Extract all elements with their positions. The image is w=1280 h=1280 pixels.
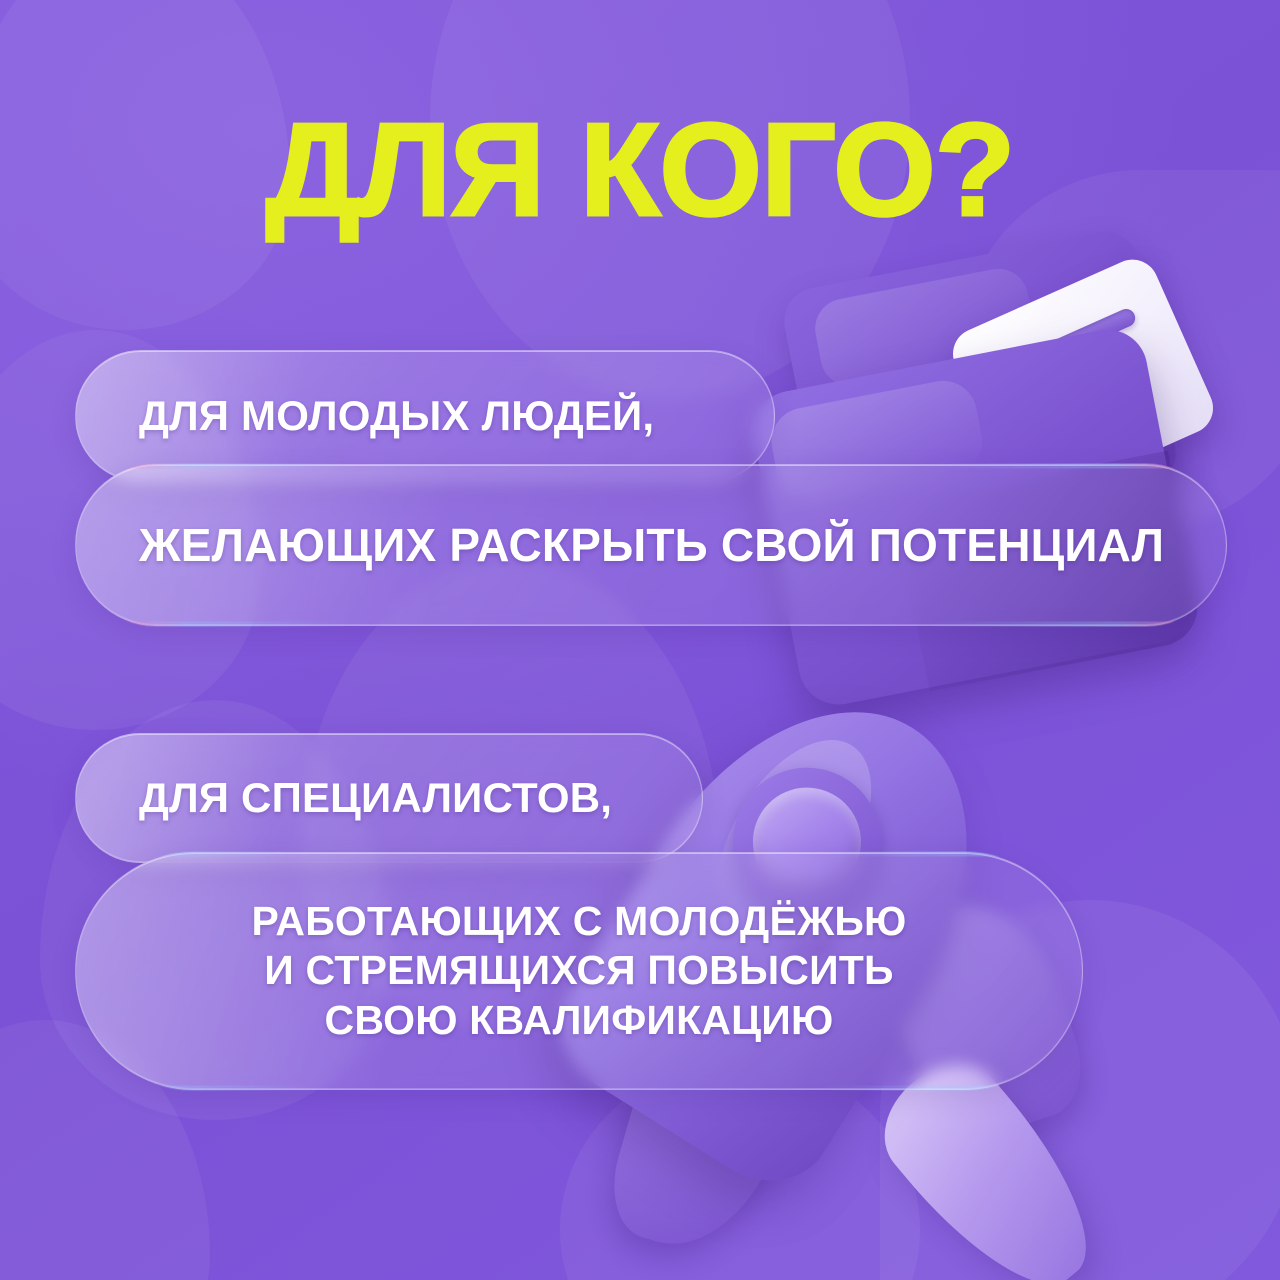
audience-card-young-people-heading: ДЛЯ МОЛОДЫХ ЛЮДЕЙ, [75,350,775,482]
audience-heading-label: ДЛЯ МОЛОДЫХ ЛЮДЕЙ, [139,392,654,440]
audience-card-young-people-detail: ЖЕЛАЮЩИХ РАСКРЫТЬ СВОЙ ПОТЕНЦИАЛ [75,464,1227,626]
audience-card-specialists-detail: РАБОТАЮЩИХ С МОЛОДЁЖЬЮ И СТРЕМЯЩИХСЯ ПОВ… [75,852,1083,1090]
page-title: ДЛЯ КОГО? [0,104,1280,236]
audience-card-specialists-heading: ДЛЯ СПЕЦИАЛИСТОВ, [75,733,703,863]
slide-canvas: ДЛЯ КОГО? ДЛЯ МОЛОДЫХ ЛЮДЕЙ, ЖЕЛАЮЩИХ РА… [0,0,1280,1280]
audience-heading-label: ДЛЯ СПЕЦИАЛИСТОВ, [139,774,612,822]
audience-detail-line-3: СВОЮ КВАЛИФИКАЦИЮ [325,997,834,1043]
audience-detail-label: ЖЕЛАЮЩИХ РАСКРЫТЬ СВОЙ ПОТЕНЦИАЛ [139,518,1164,572]
audience-detail-block: РАБОТАЮЩИХ С МОЛОДЁЖЬЮ И СТРЕМЯЩИХСЯ ПОВ… [251,897,906,1045]
audience-detail-line-2: И СТРЕМЯЩИХСЯ ПОВЫСИТЬ [264,947,893,993]
audience-detail-line-1: РАБОТАЮЩИХ С МОЛОДЁЖЬЮ [251,898,906,944]
